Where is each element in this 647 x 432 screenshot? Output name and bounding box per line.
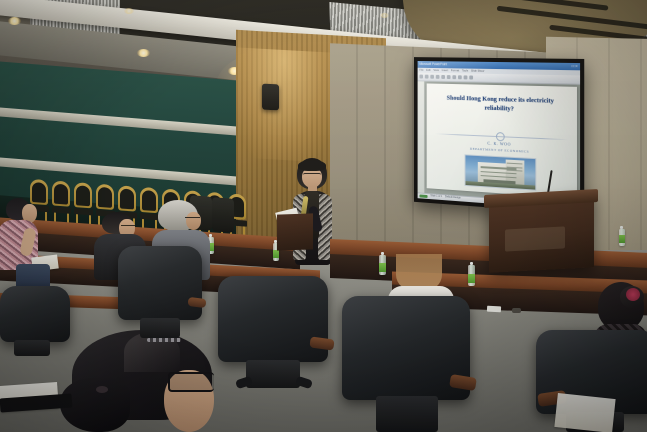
- menu-slideshow[interactable]: Slide Show: [471, 70, 484, 73]
- wall-wood-lightpool: [236, 47, 332, 162]
- attendee-far-left: [0, 198, 58, 290]
- menu-format[interactable]: Format: [451, 69, 459, 72]
- presenter-fringe: [298, 160, 326, 171]
- chart-icon[interactable]: [464, 75, 468, 79]
- textbox-icon[interactable]: [458, 75, 462, 79]
- print-icon[interactable]: [436, 75, 440, 79]
- phone-device[interactable]: [487, 306, 501, 313]
- ppt-outline-pane[interactable]: [418, 81, 425, 193]
- executive-chair[interactable]: [218, 276, 328, 388]
- downlight-6: [380, 13, 389, 18]
- undo-icon[interactable]: [441, 75, 445, 79]
- lectern-emblem-icon: [505, 226, 565, 251]
- desk-object: [512, 308, 521, 313]
- menu-edit[interactable]: Edit: [426, 69, 430, 72]
- menu-insert[interactable]: Insert: [442, 69, 448, 72]
- presenter-glasses-icon: [303, 173, 321, 177]
- downlight-2: [137, 49, 150, 57]
- attendee-face: [186, 212, 201, 230]
- executive-chair[interactable]: [342, 296, 470, 432]
- menu-file[interactable]: File: [419, 69, 423, 72]
- hair-tie-icon: [96, 386, 108, 393]
- slide-photo: [465, 154, 536, 191]
- attendee-glasses-icon: [121, 225, 135, 229]
- attendee-glasses-icon: [185, 217, 200, 221]
- water-bottle[interactable]: [378, 252, 386, 275]
- projected-image: Microsoft PowerPoint □□✕ File Edit View …: [418, 61, 580, 210]
- save-icon[interactable]: [430, 75, 434, 79]
- open-icon[interactable]: [425, 75, 429, 79]
- hair-accessory-red-icon: [626, 288, 640, 301]
- handout-paper[interactable]: [554, 393, 615, 432]
- status-design: Default Design: [445, 197, 461, 201]
- executive-chair[interactable]: [0, 286, 70, 356]
- slide-title: Should Hong Kong reduce its electricity …: [435, 95, 568, 116]
- attendee-glasses-icon[interactable]: [168, 372, 214, 392]
- executive-chair[interactable]: [118, 246, 202, 338]
- menu-tools[interactable]: Tools: [462, 70, 468, 73]
- water-bottle[interactable]: [618, 226, 625, 246]
- zoom-icon[interactable]: [469, 75, 473, 79]
- wall-speaker-icon: [262, 84, 279, 111]
- banquet-chair[interactable]: [74, 182, 93, 225]
- window-controls-icon[interactable]: □□✕: [571, 65, 578, 68]
- status-slide-number: Slide 1 of 1: [430, 195, 442, 198]
- hair-clip-icon: [147, 338, 181, 342]
- menu-view[interactable]: View: [433, 69, 439, 72]
- conference-room-photo: Microsoft PowerPoint □□✕ File Edit View …: [0, 0, 647, 432]
- redo-icon[interactable]: [447, 75, 451, 79]
- start-button-icon[interactable]: [419, 194, 427, 198]
- side-cabinet: [277, 213, 313, 250]
- new-icon[interactable]: [419, 75, 423, 79]
- ppt-window-title: Microsoft PowerPoint: [419, 63, 447, 67]
- water-bottle[interactable]: [467, 262, 475, 286]
- attendee-foreground-ponytail: [52, 330, 232, 432]
- shape-icon[interactable]: [452, 75, 456, 79]
- ppt-workspace: Should Hong Kong reduce its electricity …: [418, 81, 580, 204]
- downlight-4: [124, 8, 134, 14]
- downlight-1: [8, 17, 21, 25]
- ppt-slide-canvas[interactable]: Should Hong Kong reduce its electricity …: [426, 83, 577, 199]
